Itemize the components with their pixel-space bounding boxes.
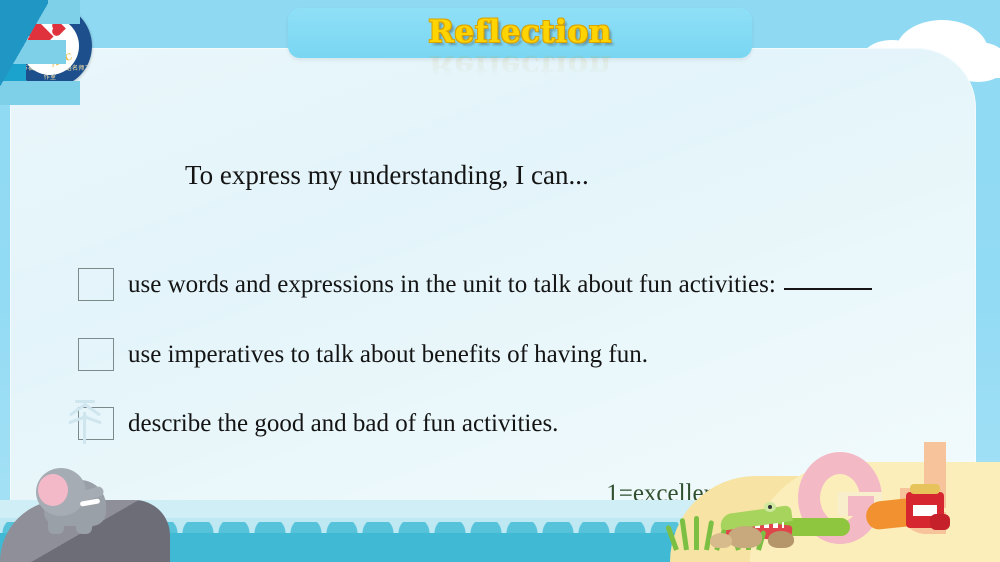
rock-icon [710,533,732,548]
rock-icon [768,531,794,548]
fill-in-blank[interactable] [784,288,872,290]
checklist-item-label: use imperatives to talk about benefits o… [128,341,648,369]
heart-icon [53,22,66,35]
checklist-item[interactable]: use words and expressions in the unit to… [78,268,872,301]
small-tree-icon [62,398,108,444]
title-banner: Reflection Reflection [288,8,752,58]
checklist-item[interactable]: use imperatives to talk about benefits o… [78,338,648,371]
jam-jar-icon [900,482,948,528]
checkbox-2[interactable] [78,338,114,371]
page-title: To express my understanding, I can... [185,160,589,191]
elephant-icon [28,462,120,534]
checklist-item[interactable]: describe the good and bad of fun activit… [78,407,558,440]
checklist-item-label: describe the good and bad of fun activit… [128,410,558,438]
slide-canvas: To express my understanding, I can... us… [0,0,1000,562]
rock-icon [728,526,762,548]
checkbox-1[interactable] [78,268,114,301]
checklist-item-label: use words and expressions in the unit to… [128,271,872,299]
banner-title: Reflection [288,14,752,50]
